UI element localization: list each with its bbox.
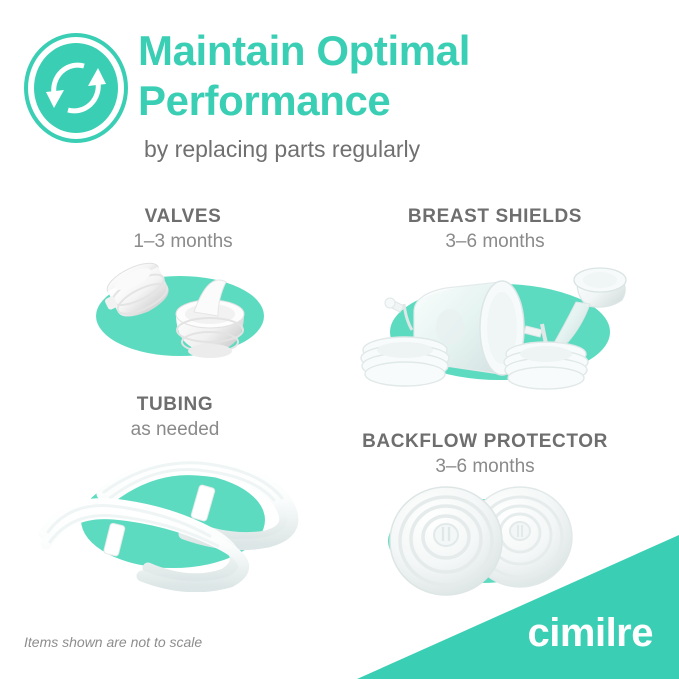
section-breast-shields: BREAST SHIELDS 3–6 months xyxy=(345,205,645,399)
section-backflow-protector: BACKFLOW PROTECTOR 3–6 months xyxy=(330,430,640,604)
section-valves-label: VALVES xyxy=(38,205,328,229)
header: Maintain Optimal Performance by replacin… xyxy=(0,0,679,175)
footnote-not-to-scale: Items shown are not to scale xyxy=(24,633,202,651)
breast-shields-photo xyxy=(350,254,640,399)
section-tubing: TUBING as needed xyxy=(30,393,320,592)
page-subtitle: by replacing parts regularly xyxy=(144,135,608,163)
section-breast-shields-interval: 3–6 months xyxy=(345,229,645,254)
page-title-line-1: Maintain Optimal xyxy=(138,26,608,76)
infographic-page: Maintain Optimal Performance by replacin… xyxy=(0,0,679,679)
page-title-line-2: Performance xyxy=(138,76,608,126)
section-backflow-protector-label: BACKFLOW PROTECTOR xyxy=(330,430,640,454)
refresh-cycle-icon xyxy=(22,32,130,144)
section-valves: VALVES 1–3 months xyxy=(38,205,328,374)
section-tubing-interval: as needed xyxy=(30,417,320,442)
section-tubing-label: TUBING xyxy=(30,393,320,417)
brand-logo: cimilre xyxy=(528,611,653,655)
valves-photo xyxy=(68,254,298,374)
tubing-photo xyxy=(30,442,320,592)
section-backflow-protector-interval: 3–6 months xyxy=(330,454,640,479)
section-breast-shields-label: BREAST SHIELDS xyxy=(345,205,645,229)
section-valves-interval: 1–3 months xyxy=(38,229,328,254)
backflow-protector-photo xyxy=(360,479,610,604)
header-text-block: Maintain Optimal Performance by replacin… xyxy=(138,26,608,163)
